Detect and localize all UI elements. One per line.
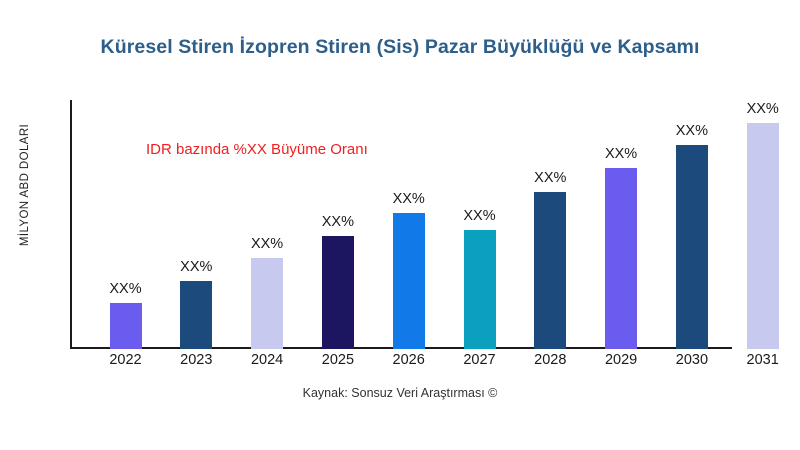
x-tick-2023: 2023	[162, 352, 230, 368]
bar-rect-2027	[464, 230, 496, 349]
bar-2031[interactable]: XX%	[747, 123, 779, 349]
bar-value-label-2023: XX%	[180, 259, 212, 275]
bar-value-label-2031: XX%	[747, 101, 779, 117]
x-tick-2027: 2027	[446, 352, 514, 368]
x-tick-2026: 2026	[375, 352, 443, 368]
bar-value-label-2027: XX%	[463, 208, 495, 224]
bar-value-label-2030: XX%	[676, 123, 708, 139]
bar-rect-2029	[605, 168, 637, 349]
x-tick-2024: 2024	[233, 352, 301, 368]
bar-2028[interactable]: XX%	[534, 192, 566, 349]
bar-2026[interactable]: XX%	[393, 213, 425, 349]
bar-value-label-2026: XX%	[393, 191, 425, 207]
x-axis-tick-labels: 2022202320242025202620272028202920302031	[0, 352, 800, 376]
chart-title: Küresel Stiren İzopren Stiren (Sis) Paza…	[0, 36, 800, 59]
bar-value-label-2024: XX%	[251, 236, 283, 252]
bar-rect-2028	[534, 192, 566, 349]
bar-value-label-2025: XX%	[322, 214, 354, 230]
bar-rect-2023	[180, 281, 212, 349]
chart-container: Küresel Stiren İzopren Stiren (Sis) Paza…	[0, 0, 800, 450]
bar-value-label-2022: XX%	[109, 281, 141, 297]
bar-rect-2031	[747, 123, 779, 349]
bar-rect-2026	[393, 213, 425, 349]
bar-rect-2022	[110, 303, 142, 349]
bar-value-label-2029: XX%	[605, 146, 637, 162]
bar-2023[interactable]: XX%	[180, 281, 212, 349]
bar-2029[interactable]: XX%	[605, 168, 637, 349]
bar-2024[interactable]: XX%	[251, 258, 283, 349]
x-tick-2030: 2030	[658, 352, 726, 368]
bar-rect-2024	[251, 258, 283, 349]
source-caption: Kaynak: Sonsuz Veri Araştırması ©	[0, 386, 800, 400]
bar-value-label-2028: XX%	[534, 170, 566, 186]
bar-2025[interactable]: XX%	[322, 236, 354, 349]
x-tick-2025: 2025	[304, 352, 372, 368]
x-tick-2022: 2022	[92, 352, 160, 368]
x-tick-2029: 2029	[587, 352, 655, 368]
x-tick-2031: 2031	[729, 352, 797, 368]
bar-rect-2030	[676, 145, 708, 349]
bar-2027[interactable]: XX%	[464, 230, 496, 349]
bar-2030[interactable]: XX%	[676, 145, 708, 349]
bar-2022[interactable]: XX%	[110, 303, 142, 349]
bar-series: XX%XX%XX%XX%XX%XX%XX%XX%XX%XX%	[0, 100, 800, 350]
x-tick-2028: 2028	[516, 352, 584, 368]
bar-rect-2025	[322, 236, 354, 349]
